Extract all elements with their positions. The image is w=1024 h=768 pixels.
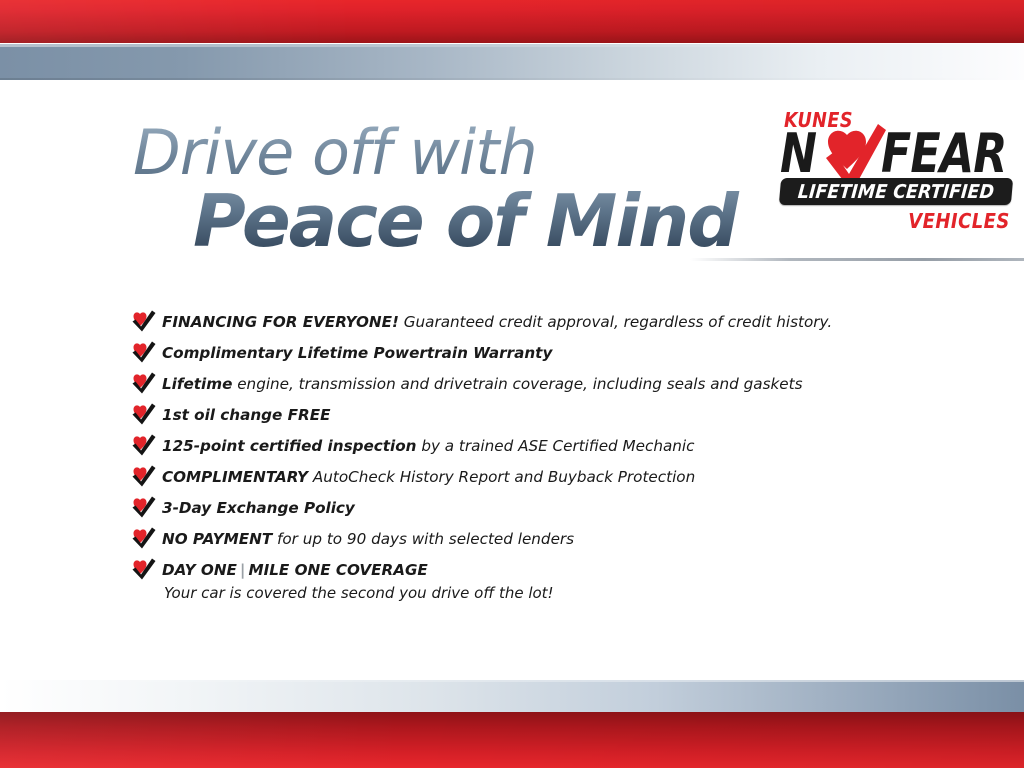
benefits-list: FINANCING FOR EVERYONE! Guaranteed credi…: [131, 307, 931, 604]
headline-line-2: Peace of Mind: [193, 185, 753, 258]
top-red-band: [0, 0, 1024, 43]
list-item-lead: NO PAYMENT: [162, 530, 272, 548]
list-item-text: COMPLIMENTARY AutoCheck History Report a…: [162, 462, 931, 493]
list-item-text: Lifetime engine, transmission and drivet…: [162, 369, 931, 400]
list-item: DAY ONE|MILE ONE COVERAGE Your car is co…: [131, 555, 931, 604]
heart-check-mark-icon: [131, 403, 156, 425]
logo-word-vehicles: VEHICLES: [908, 209, 1010, 233]
list-item-rest: AutoCheck History Report and Buyback Pro…: [308, 468, 695, 486]
heart-check-mark-icon: [131, 341, 156, 363]
logo-banner-label: LIFETIME CERTIFIED: [788, 178, 1004, 205]
bottom-gray-gradient-band: [0, 680, 1024, 712]
list-item-text: NO PAYMENT for up to 90 days with select…: [162, 524, 931, 555]
list-item-rest: Guaranteed credit approval, regardless o…: [399, 313, 832, 331]
list-item-lead: Lifetime: [162, 375, 232, 393]
list-item-text: Complimentary Lifetime Powertrain Warran…: [162, 338, 931, 369]
bottom-red-band: [0, 712, 1024, 768]
logo-lifetime-certified-banner: LIFETIME CERTIFIED: [779, 178, 1013, 205]
list-item: 125-point certified inspection by a trai…: [131, 431, 931, 462]
list-item-rest: engine, transmission and drivetrain cove…: [232, 375, 802, 393]
heart-check-mark-icon: [131, 310, 156, 332]
list-item: COMPLIMENTARY AutoCheck History Report a…: [131, 462, 931, 493]
promotional-banner-page: Drive off with Peace of Mind KUNES N FEA…: [0, 0, 1024, 768]
list-item-subtext: Your car is covered the second you drive…: [164, 582, 931, 604]
heart-check-mark-icon: [131, 465, 156, 487]
heart-check-mark-icon: [131, 372, 156, 394]
list-item-lead-2: MILE ONE COVERAGE: [248, 561, 427, 579]
header-divider: [690, 258, 1024, 261]
list-item-text: 3-Day Exchange Policy: [162, 493, 931, 524]
heart-check-mark-icon: [131, 496, 156, 518]
list-item-lead: Complimentary Lifetime Powertrain Warran…: [162, 344, 552, 362]
list-item: FINANCING FOR EVERYONE! Guaranteed credi…: [131, 307, 931, 338]
list-item-rest: by a trained ASE Certified Mechanic: [417, 437, 695, 455]
heart-check-mark-icon: [131, 434, 156, 456]
list-item: Lifetime engine, transmission and drivet…: [131, 369, 931, 400]
list-item-lead: 1st oil change FREE: [162, 406, 330, 424]
list-item-rest: for up to 90 days with selected lenders: [272, 530, 574, 548]
logo-letter-n: N: [780, 126, 817, 182]
list-item: Complimentary Lifetime Powertrain Warran…: [131, 338, 931, 369]
list-item: 3-Day Exchange Policy: [131, 493, 931, 524]
list-item: 1st oil change FREE: [131, 400, 931, 431]
kunes-no-fear-logo: KUNES N FEAR LIFETIME CERTIFIED VEHICLES: [778, 108, 1014, 248]
headline-line-1: Drive off with: [133, 124, 753, 183]
headline-block: Drive off with Peace of Mind: [133, 124, 753, 258]
list-item-lead: DAY ONE: [162, 561, 237, 579]
list-item-lead: 125-point certified inspection: [162, 437, 417, 455]
list-item: NO PAYMENT for up to 90 days with select…: [131, 524, 931, 555]
list-item-lead: FINANCING FOR EVERYONE!: [162, 313, 399, 331]
list-item-lead: 3-Day Exchange Policy: [162, 499, 355, 517]
list-item-lead: COMPLIMENTARY: [162, 468, 308, 486]
list-item-separator: |: [237, 561, 249, 579]
heart-check-mark-icon: [131, 558, 156, 580]
top-gray-gradient-band: [0, 44, 1024, 80]
list-item-text: 1st oil change FREE: [162, 400, 931, 431]
list-item-text: 125-point certified inspection by a trai…: [162, 431, 931, 462]
logo-wordmark-row: N FEAR: [778, 126, 1014, 182]
logo-word-fear: FEAR: [881, 126, 1007, 182]
heart-check-mark-icon: [131, 527, 156, 549]
list-item-text: FINANCING FOR EVERYONE! Guaranteed credi…: [162, 307, 931, 338]
